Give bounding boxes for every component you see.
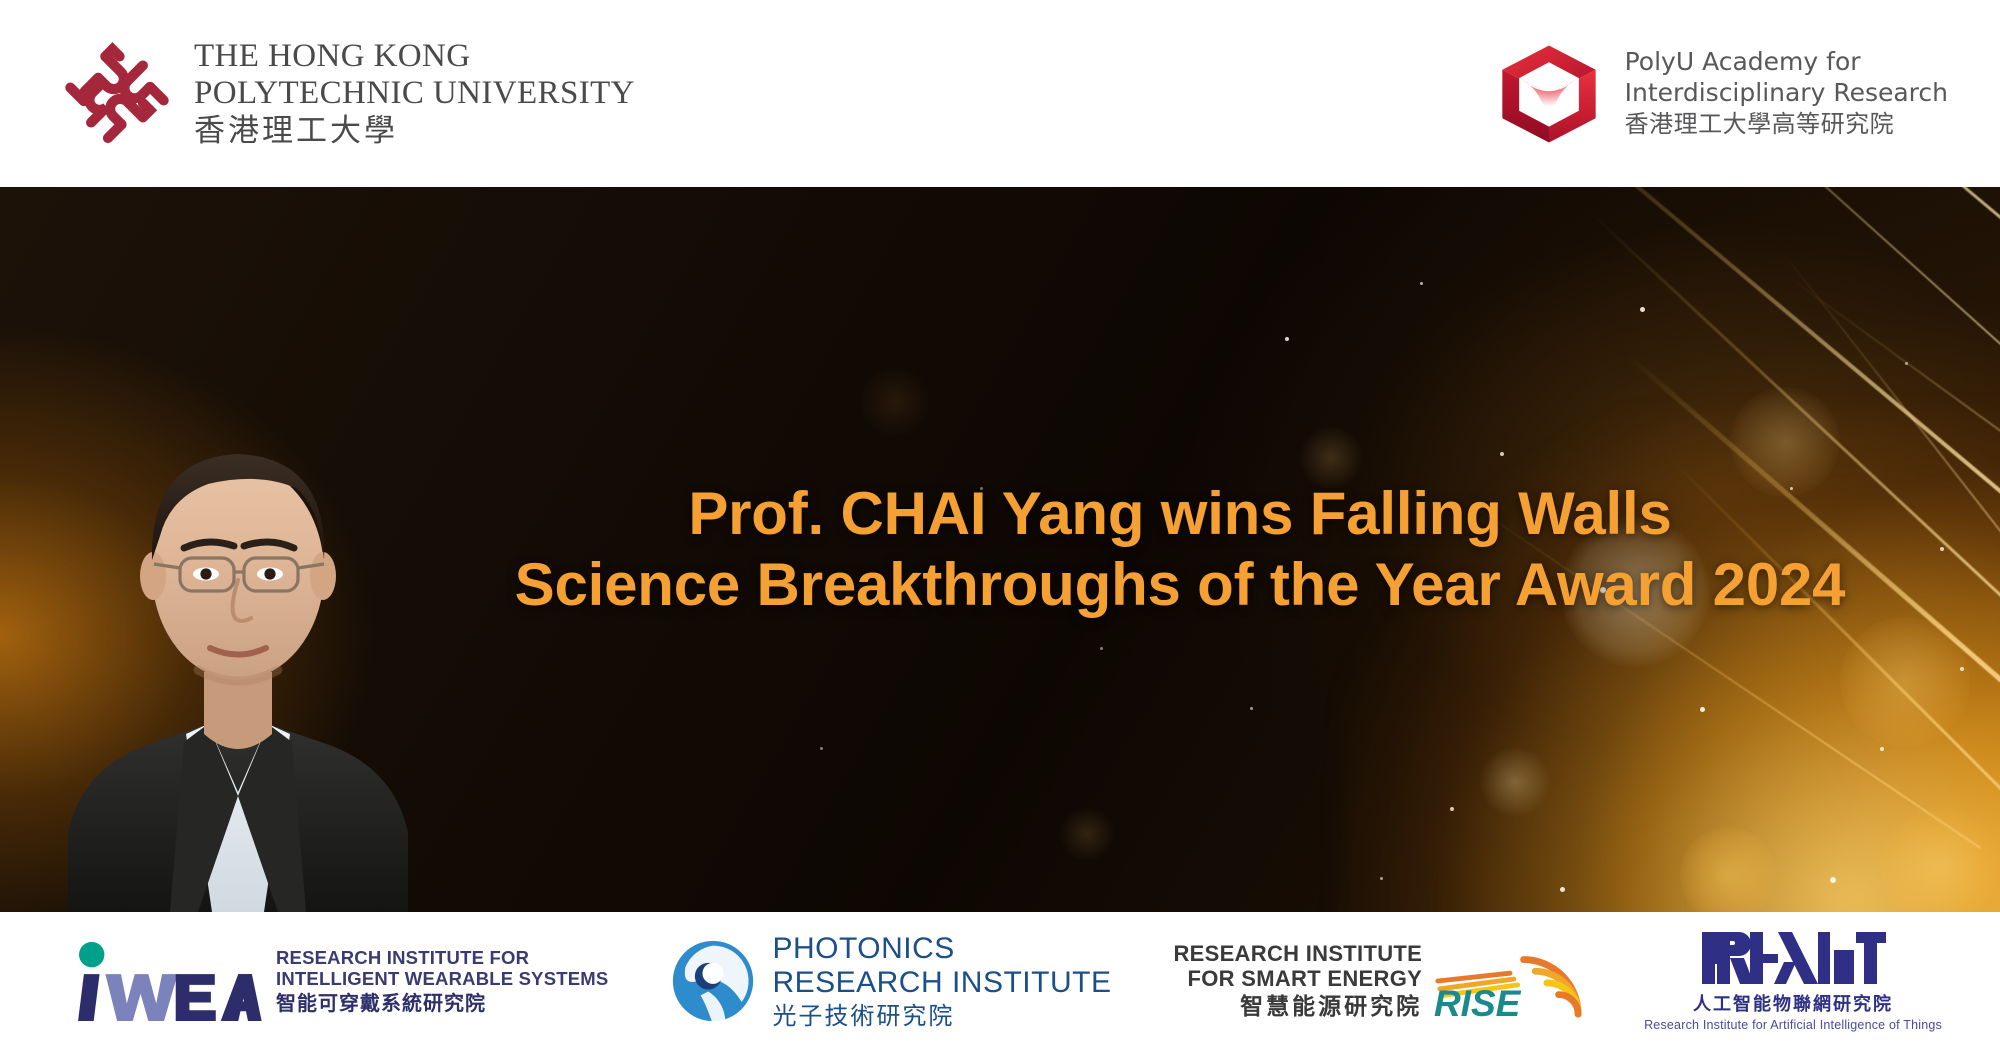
header-bar: THE HONG KONG POLYTECHNIC UNIVERSITY 香港理… [0, 0, 2000, 187]
headline-line-2: Science Breakthroughs of the Year Award … [515, 550, 1846, 621]
rise-line1: RESEARCH INSTITUTE [1173, 942, 1422, 967]
pair-name-chinese: 香港理工大學高等研究院 [1625, 110, 1948, 139]
iwear-wordmark-icon [66, 939, 262, 1023]
pair-academy-logo[interactable]: PolyU Academy for Interdisciplinary Rese… [1493, 38, 1948, 150]
pair-wordmark: PolyU Academy for Interdisciplinary Rese… [1625, 47, 1948, 139]
polyu-name-line2: POLYTECHNIC UNIVERSITY [194, 77, 635, 110]
riaiot-wordmark-icon [1700, 930, 1886, 986]
photonics-wordmark-text: PHOTONICS RESEARCH INSTITUTE 光子技術研究院 [772, 932, 1111, 1029]
rise-chinese: 智慧能源研究院 [1240, 994, 1422, 1020]
footer-logo-iwear[interactable]: RESEARCH INSTITUTE FOR INTELLIGENT WEARA… [66, 939, 608, 1023]
polyu-knot-icon [62, 39, 172, 149]
rise-wordmark-text: RESEARCH INSTITUTE FOR SMART ENERGY 智慧能源… [1173, 942, 1422, 1021]
polyu-name-chinese: 香港理工大學 [194, 116, 635, 147]
rise-line2: FOR SMART ENERGY [1188, 967, 1423, 992]
banner-headline: Prof. CHAI Yang wins Falling Walls Scien… [400, 187, 1960, 912]
photonics-chinese: 光子技術研究院 [772, 1003, 1111, 1030]
hero-banner: Prof. CHAI Yang wins Falling Walls Scien… [0, 187, 2000, 912]
photonics-line1: PHOTONICS [772, 932, 1111, 966]
iwear-line2: INTELLIGENT WEARABLE SYSTEMS [276, 968, 608, 989]
pair-cube-icon [1493, 38, 1605, 150]
riaiot-english: Research Institute for Artificial Intell… [1644, 1018, 1942, 1032]
pair-name-line1: PolyU Academy for [1625, 47, 1948, 78]
iwear-line1: RESEARCH INSTITUTE FOR [276, 947, 608, 968]
headline-line-1: Prof. CHAI Yang wins Falling Walls [688, 479, 1671, 550]
iwear-wordmark-text: RESEARCH INSTITUTE FOR INTELLIGENT WEARA… [276, 947, 608, 1015]
polyu-name-line1: THE HONG KONG [194, 40, 635, 73]
pair-name-line2: Interdisciplinary Research [1625, 78, 1948, 109]
photonics-line2: RESEARCH INSTITUTE [772, 966, 1111, 1000]
polyu-university-logo[interactable]: THE HONG KONG POLYTECHNIC UNIVERSITY 香港理… [62, 39, 635, 149]
iwear-chinese: 智能可穿戴系統研究院 [276, 992, 608, 1015]
photonics-globe-icon [670, 938, 756, 1024]
footer-logo-bar: RESEARCH INSTITUTE FOR INTELLIGENT WEARA… [0, 912, 2000, 1050]
rise-wordmark-icon: RISE [1432, 942, 1582, 1020]
riaiot-chinese: 人工智能物聯網研究院 [1693, 990, 1893, 1016]
polyu-wordmark: THE HONG KONG POLYTECHNIC UNIVERSITY 香港理… [194, 40, 635, 147]
professor-portrait-photo [58, 272, 418, 912]
footer-logo-photonics[interactable]: PHOTONICS RESEARCH INSTITUTE 光子技術研究院 [670, 932, 1111, 1029]
rise-letters: RISE [1434, 982, 1522, 1020]
footer-logo-riaiot[interactable]: 人工智能物聯網研究院 Research Institute for Artifi… [1644, 930, 1942, 1032]
footer-logo-rise[interactable]: RESEARCH INSTITUTE FOR SMART ENERGY 智慧能源… [1173, 942, 1582, 1021]
